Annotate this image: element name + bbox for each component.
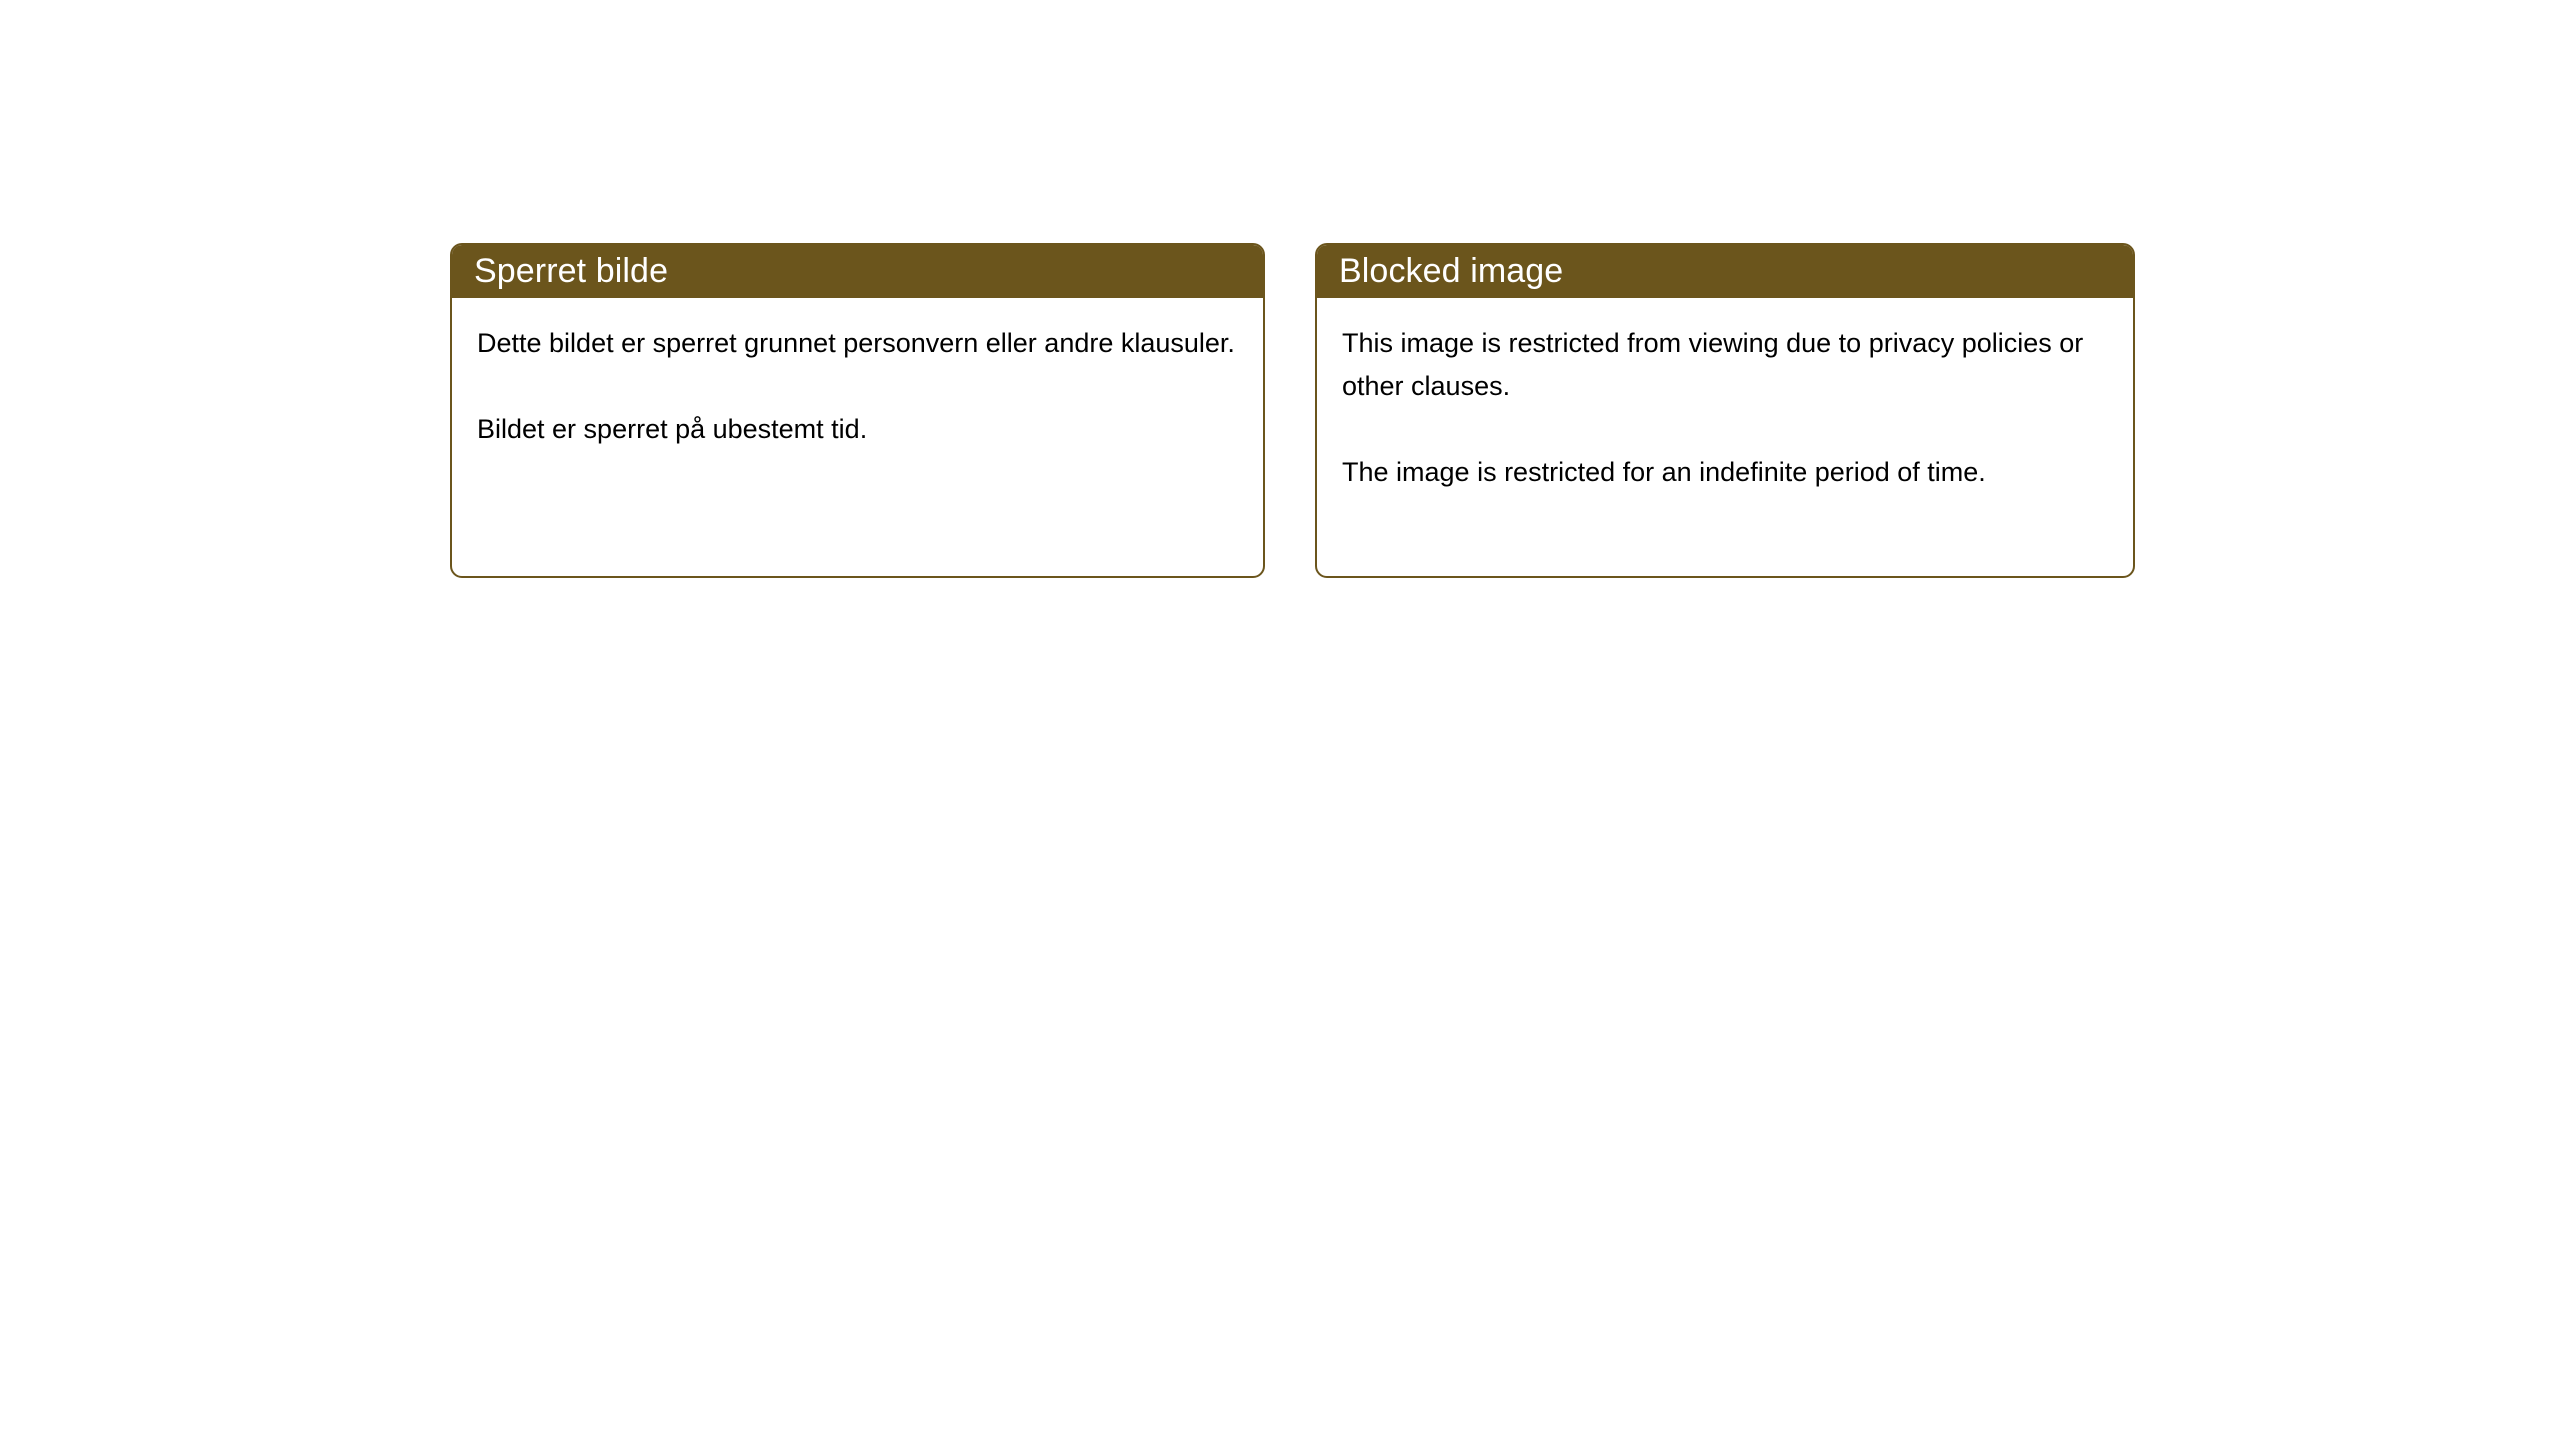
blocked-image-notice-norwegian: Sperret bilde Dette bildet er sperret gr…: [450, 243, 1265, 578]
page-root: Sperret bilde Dette bildet er sperret gr…: [0, 0, 2560, 1440]
card-body-english: This image is restricted from viewing du…: [1317, 298, 2133, 494]
card-header-norwegian: Sperret bilde: [450, 243, 1265, 298]
card-paragraph-english-1: This image is restricted from viewing du…: [1342, 322, 2115, 408]
card-header-english: Blocked image: [1315, 243, 2135, 298]
card-title-english: Blocked image: [1339, 254, 1563, 288]
blocked-image-notice-english: Blocked image This image is restricted f…: [1315, 243, 2135, 578]
card-paragraph-norwegian-1: Dette bildet er sperret grunnet personve…: [477, 322, 1245, 365]
card-paragraph-english-2: The image is restricted for an indefinit…: [1342, 451, 2115, 494]
card-body-norwegian: Dette bildet er sperret grunnet personve…: [452, 298, 1263, 451]
card-title-norwegian: Sperret bilde: [474, 254, 668, 288]
card-paragraph-norwegian-2: Bildet er sperret på ubestemt tid.: [477, 408, 1245, 451]
